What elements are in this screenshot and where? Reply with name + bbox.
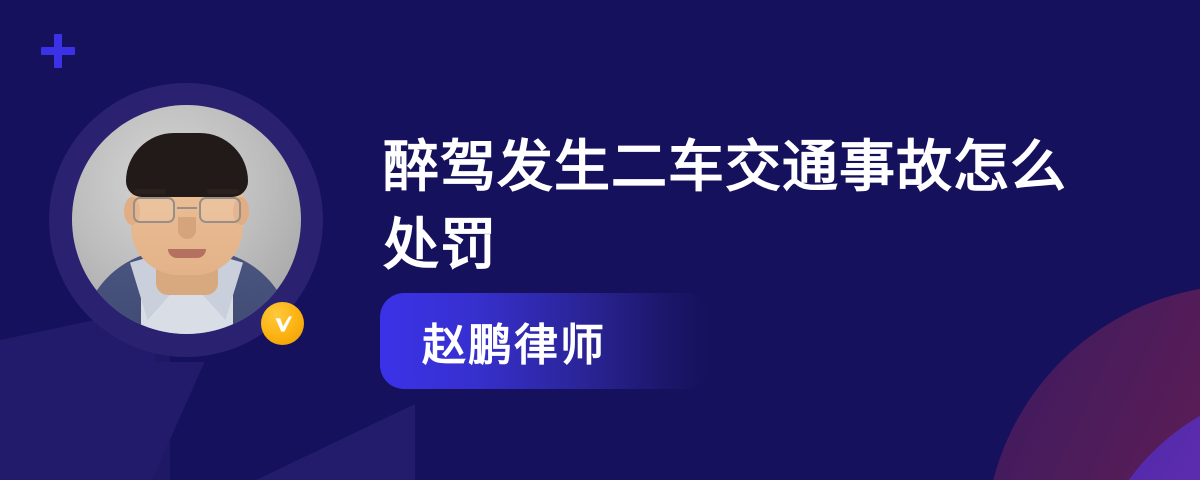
portrait-mouth	[168, 249, 206, 258]
lawyer-name-button[interactable]: 赵鹏律师	[380, 293, 710, 389]
glasses-bridge	[177, 207, 197, 209]
glasses-lens-left	[133, 197, 175, 223]
avatar	[72, 105, 301, 334]
portrait-eyebrow-left	[134, 189, 166, 194]
portrait-hair	[126, 133, 248, 197]
verified-v-check-icon	[270, 311, 296, 337]
glasses-lens-right	[199, 197, 241, 223]
verified-badge	[261, 302, 304, 345]
decor-blob-crimson	[985, 285, 1200, 480]
decor-blob-purple	[1085, 385, 1200, 480]
portrait-nose	[178, 217, 196, 239]
page-title: 醉驾发生二车交通事故怎么处罚	[383, 128, 1083, 284]
lawyer-article-banner: 醉驾发生二车交通事故怎么处罚 赵鹏律师	[0, 0, 1200, 480]
portrait-eyebrow-right	[207, 189, 239, 194]
decor-facet-triangle	[185, 404, 415, 480]
decor-facet-left	[0, 362, 205, 480]
plus-icon	[41, 34, 75, 68]
